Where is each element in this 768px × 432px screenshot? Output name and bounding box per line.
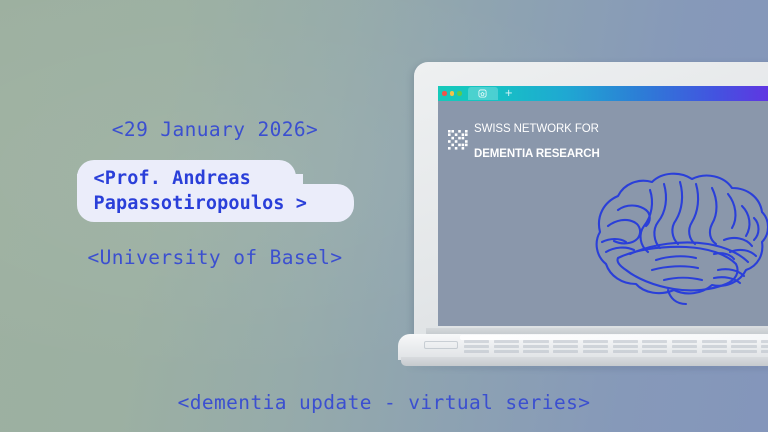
key (702, 345, 727, 348)
key (642, 350, 667, 353)
key (553, 350, 578, 353)
laptop-illustration: + (404, 62, 768, 372)
brain-illustration-icon (556, 154, 768, 314)
key (494, 350, 519, 353)
speaker-name-line-1: <Prof. Andreas (94, 168, 251, 189)
key (642, 340, 667, 343)
key (761, 350, 768, 353)
maximize-window-dot[interactable] (457, 91, 462, 96)
speaker-name: <Prof. Andreas Papassotiropoulos > (77, 160, 354, 216)
key (494, 345, 519, 348)
key (523, 345, 548, 348)
key-row (464, 350, 768, 353)
key (464, 350, 489, 353)
key (523, 350, 548, 353)
logo-line-1: SWISS NETWORK FOR (474, 123, 600, 136)
key (761, 345, 768, 348)
key (613, 345, 638, 348)
key (761, 340, 768, 343)
speaker-name-line-2: Papassotiropoulos > (94, 193, 308, 214)
laptop-base-front-edge (401, 357, 768, 366)
laptop-trackpad (424, 341, 458, 349)
key (642, 345, 667, 348)
home-icon (478, 89, 487, 98)
key-row (464, 345, 768, 348)
close-window-dot[interactable] (442, 91, 447, 96)
key (464, 340, 489, 343)
new-tab-button[interactable]: + (505, 89, 513, 99)
minimize-window-dot[interactable] (450, 91, 455, 96)
key (523, 340, 548, 343)
key (672, 350, 697, 353)
browser-tab[interactable] (468, 87, 498, 100)
key (494, 340, 519, 343)
key (702, 350, 727, 353)
event-details-block: <29 January 2026> <Prof. Andreas Papasso… (0, 118, 430, 269)
key (464, 345, 489, 348)
event-date: <29 January 2026> (0, 118, 430, 141)
key (731, 340, 756, 343)
speaker-affiliation: <University of Basel> (0, 246, 430, 269)
key (583, 340, 608, 343)
key (702, 340, 727, 343)
key (731, 350, 756, 353)
key (613, 350, 638, 353)
pixel-grid-logo-mark-icon (448, 130, 470, 152)
key (553, 345, 578, 348)
key-row (464, 340, 768, 343)
laptop-screen: + (438, 86, 768, 326)
laptop-keyboard-keys (464, 340, 768, 351)
browser-tabstrip: + (438, 86, 768, 101)
key (672, 345, 697, 348)
key (583, 350, 608, 353)
window-traffic-lights (442, 91, 462, 96)
key (613, 340, 638, 343)
key (553, 340, 578, 343)
laptop-base (398, 334, 768, 368)
key (583, 345, 608, 348)
event-poster: <29 January 2026> <Prof. Andreas Papasso… (0, 0, 768, 432)
key (731, 345, 756, 348)
series-caption: <dementia update - virtual series> (0, 391, 768, 414)
key (672, 340, 697, 343)
speaker-name-pill: <Prof. Andreas Papassotiropoulos > (77, 160, 354, 222)
